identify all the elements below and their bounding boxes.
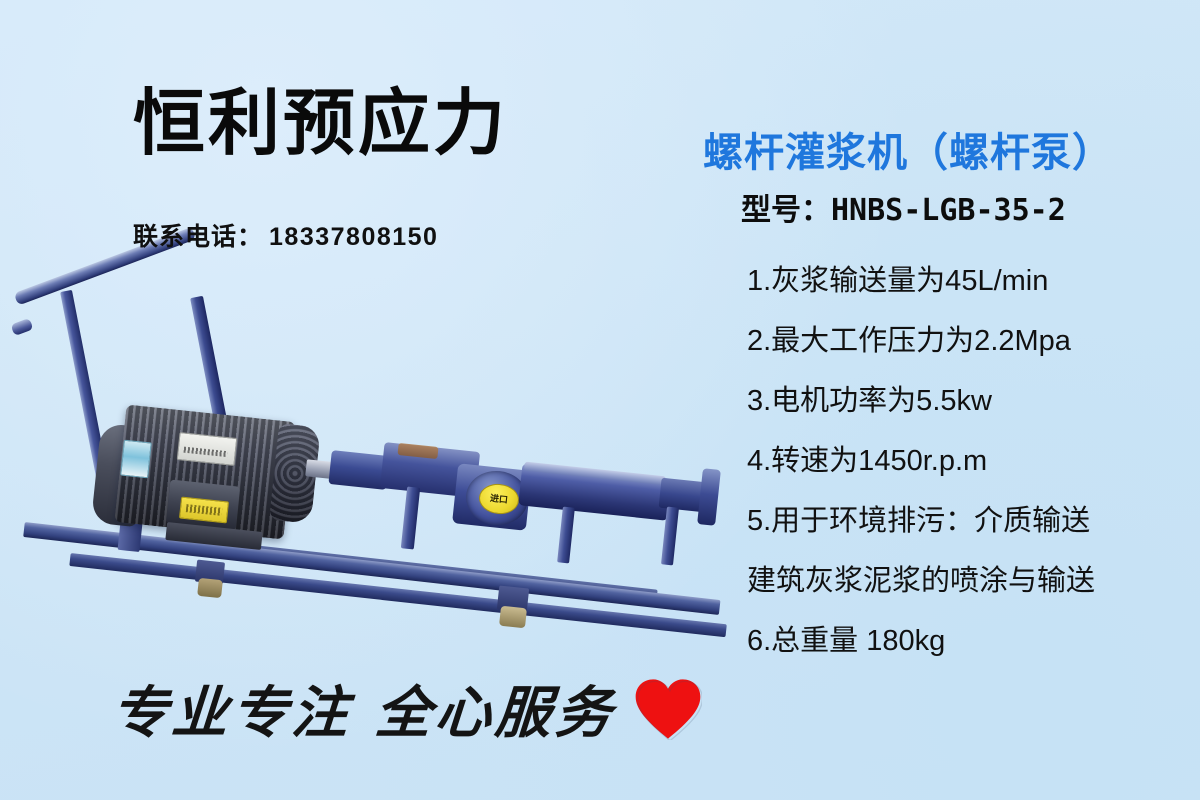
heart-icon — [634, 678, 702, 740]
handle-grip-end — [11, 318, 34, 336]
spec-item: 5.用于环境排污：介质输送 — [747, 491, 1192, 551]
pump-support-post-b — [557, 507, 575, 564]
motor-side-label — [120, 440, 152, 479]
spec-item: 1.灰浆输送量为45L/min — [747, 251, 1192, 311]
product-advertisement-poster: 进口 恒利预应力 联系电话：18337808150 螺杆灌浆机（螺杆泵） 型号：… — [0, 0, 1200, 800]
motor-nameplate — [177, 432, 238, 466]
contact-label: 联系电话： — [133, 223, 263, 251]
contact-line: 联系电话：18337808150 — [133, 217, 438, 253]
pump-support-post-a — [401, 486, 420, 549]
caster-wheel-rear — [499, 606, 527, 629]
slogan-text: 专业专注 全心服务 — [109, 668, 618, 749]
spec-item: 4.转速为1450r.p.m — [747, 431, 1192, 491]
spec-item: 6.总重量 180kg — [747, 611, 1192, 671]
pump-outlet-flange — [697, 468, 721, 526]
spec-item-continuation: 建筑灰浆泥浆的喷涂与输送 — [747, 551, 1192, 611]
brand-title: 恒利预应力 — [133, 88, 508, 160]
contact-phone-number: 18337808150 — [269, 223, 438, 251]
model-value: HNBS-LGB-35-2 — [831, 193, 1066, 228]
specification-list: 1.灰浆输送量为45L/min 2.最大工作压力为2.2Mpa 3.电机功率为5… — [747, 251, 1192, 671]
product-model-line: 型号：HNBS-LGB-35-2 — [741, 185, 1066, 229]
spec-item: 3.电机功率为5.5kw — [747, 371, 1192, 431]
caster-wheel-front — [197, 578, 223, 598]
spec-item: 2.最大工作压力为2.2Mpa — [747, 311, 1192, 371]
model-label: 型号： — [741, 194, 831, 227]
screw-grouting-pump-photo: 进口 — [0, 275, 760, 645]
product-name: 螺杆灌浆机（螺杆泵） — [703, 120, 1113, 178]
